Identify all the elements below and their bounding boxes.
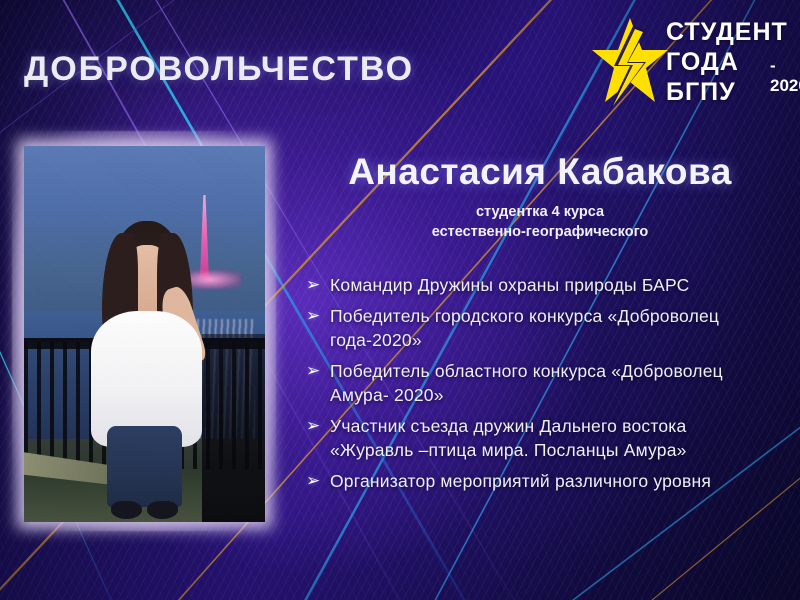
logo-year: - 2020 (770, 56, 800, 96)
achievements-list: ➢Командир Дружины охраны природы БАРС➢По… (306, 274, 726, 502)
list-item-label: Участник съезда дружин Дальнего востока … (330, 415, 726, 462)
person-subtitle-line-1: студентка 4 курса (290, 203, 790, 223)
list-item-label: Победитель городского конкурса «Добровол… (330, 305, 726, 352)
list-item-label: Организатор мероприятий различного уровн… (330, 470, 726, 493)
bullet-arrow-icon: ➢ (306, 470, 330, 493)
bullet-arrow-icon: ➢ (306, 274, 330, 297)
list-item: ➢Участник съезда дружин Дальнего востока… (306, 415, 726, 462)
list-item: ➢Организатор мероприятий различного уров… (306, 470, 726, 493)
slide-canvas: ДОБРОВОЛЬЧЕСТВО СТУДЕНТ ГОДА БГПУ - 2020 (0, 0, 800, 600)
star-icon (588, 16, 670, 120)
list-item: ➢Победитель областного конкурса «Доброво… (306, 360, 726, 407)
bullet-arrow-icon: ➢ (306, 360, 330, 383)
list-item: ➢Командир Дружины охраны природы БАРС (306, 274, 726, 297)
logo-student-of-the-year: СТУДЕНТ ГОДА БГПУ - 2020 (588, 14, 794, 122)
person-name: Анастасия Кабакова (290, 152, 790, 192)
logo-line-1: СТУДЕНТ (666, 20, 794, 45)
page-title: ДОБРОВОЛЬЧЕСТВО (24, 50, 414, 89)
bullet-arrow-icon: ➢ (306, 415, 330, 438)
person-subtitle-line-2: естественно-географического (290, 223, 790, 243)
list-item-label: Командир Дружины охраны природы БАРС (330, 274, 726, 297)
list-item: ➢Победитель городского конкурса «Доброво… (306, 305, 726, 352)
bullet-arrow-icon: ➢ (306, 305, 330, 328)
logo-text-block: СТУДЕНТ ГОДА БГПУ - 2020 (666, 20, 794, 105)
list-item-label: Победитель областного конкурса «Добровол… (330, 360, 726, 407)
person-info-block: Анастасия Кабакова студентка 4 курса ест… (290, 152, 790, 242)
portrait-photo (24, 146, 265, 522)
